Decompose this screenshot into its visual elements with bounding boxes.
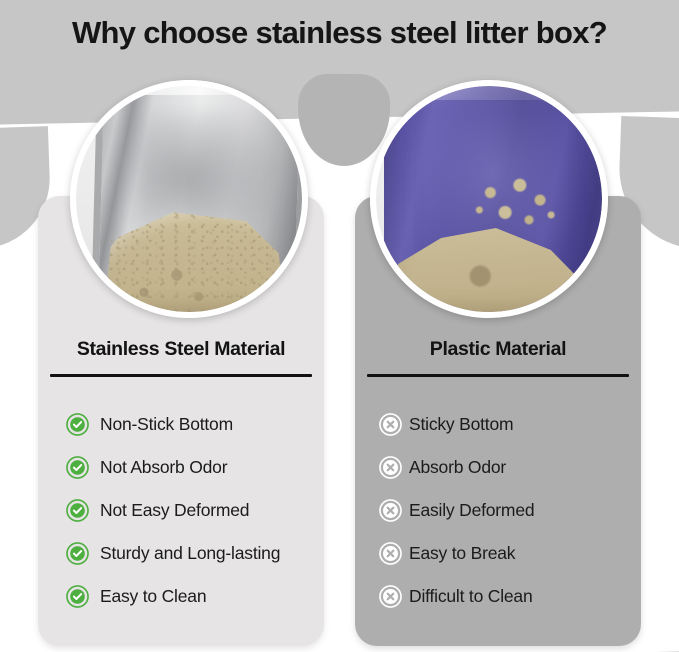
feature-list-plastic: Sticky Bottom Absorb Odor Easily Deforme… bbox=[355, 403, 641, 618]
feature-label: Non-Stick Bottom bbox=[100, 414, 233, 435]
plastic-scene bbox=[376, 86, 602, 312]
list-item: Not Easy Deformed bbox=[38, 489, 324, 532]
card-heading-left: Stainless Steel Material bbox=[38, 338, 324, 361]
list-item: Easily Deformed bbox=[355, 489, 641, 532]
feature-list-stainless-steel: Non-Stick Bottom Not Absorb Odor Not Eas… bbox=[38, 403, 324, 618]
x-circle-icon bbox=[379, 585, 402, 608]
feature-label: Not Easy Deformed bbox=[100, 500, 249, 521]
feature-label: Absorb Odor bbox=[409, 457, 506, 478]
check-circle-icon bbox=[66, 585, 89, 608]
list-item: Easy to Break bbox=[355, 532, 641, 575]
feature-label: Sticky Bottom bbox=[409, 414, 513, 435]
check-circle-icon bbox=[66, 499, 89, 522]
feature-label: Difficult to Clean bbox=[409, 586, 533, 607]
card-heading-right: Plastic Material bbox=[355, 338, 641, 361]
x-circle-icon bbox=[379, 413, 402, 436]
check-circle-icon bbox=[66, 413, 89, 436]
feature-label: Easily Deformed bbox=[409, 500, 534, 521]
photo-inner-left bbox=[76, 86, 302, 312]
product-photo-stainless-steel bbox=[70, 80, 308, 318]
check-circle-icon bbox=[66, 542, 89, 565]
steel-rim-highlight bbox=[126, 86, 302, 95]
x-circle-icon bbox=[379, 499, 402, 522]
stuck-litter-clumps bbox=[472, 174, 564, 236]
list-item: Non-Stick Bottom bbox=[38, 403, 324, 446]
product-photo-plastic bbox=[370, 80, 608, 318]
list-item: Absorb Odor bbox=[355, 446, 641, 489]
feature-label: Sturdy and Long-lasting bbox=[100, 543, 280, 564]
steel-scene bbox=[76, 86, 302, 312]
list-item: Sticky Bottom bbox=[355, 403, 641, 446]
x-circle-icon bbox=[379, 456, 402, 479]
card-divider-left bbox=[50, 374, 312, 377]
x-circle-icon bbox=[379, 542, 402, 565]
comparison-infographic: Why choose stainless steel litter box? S… bbox=[0, 0, 679, 652]
list-item: Not Absorb Odor bbox=[38, 446, 324, 489]
list-item: Difficult to Clean bbox=[355, 575, 641, 618]
feature-label: Easy to Break bbox=[409, 543, 515, 564]
feature-label: Easy to Clean bbox=[100, 586, 206, 607]
list-item: Easy to Clean bbox=[38, 575, 324, 618]
list-item: Sturdy and Long-lasting bbox=[38, 532, 324, 575]
photo-inner-right bbox=[376, 86, 602, 312]
check-circle-icon bbox=[66, 456, 89, 479]
card-divider-right bbox=[367, 374, 629, 377]
page-title: Why choose stainless steel litter box? bbox=[0, 16, 679, 50]
feature-label: Not Absorb Odor bbox=[100, 457, 227, 478]
